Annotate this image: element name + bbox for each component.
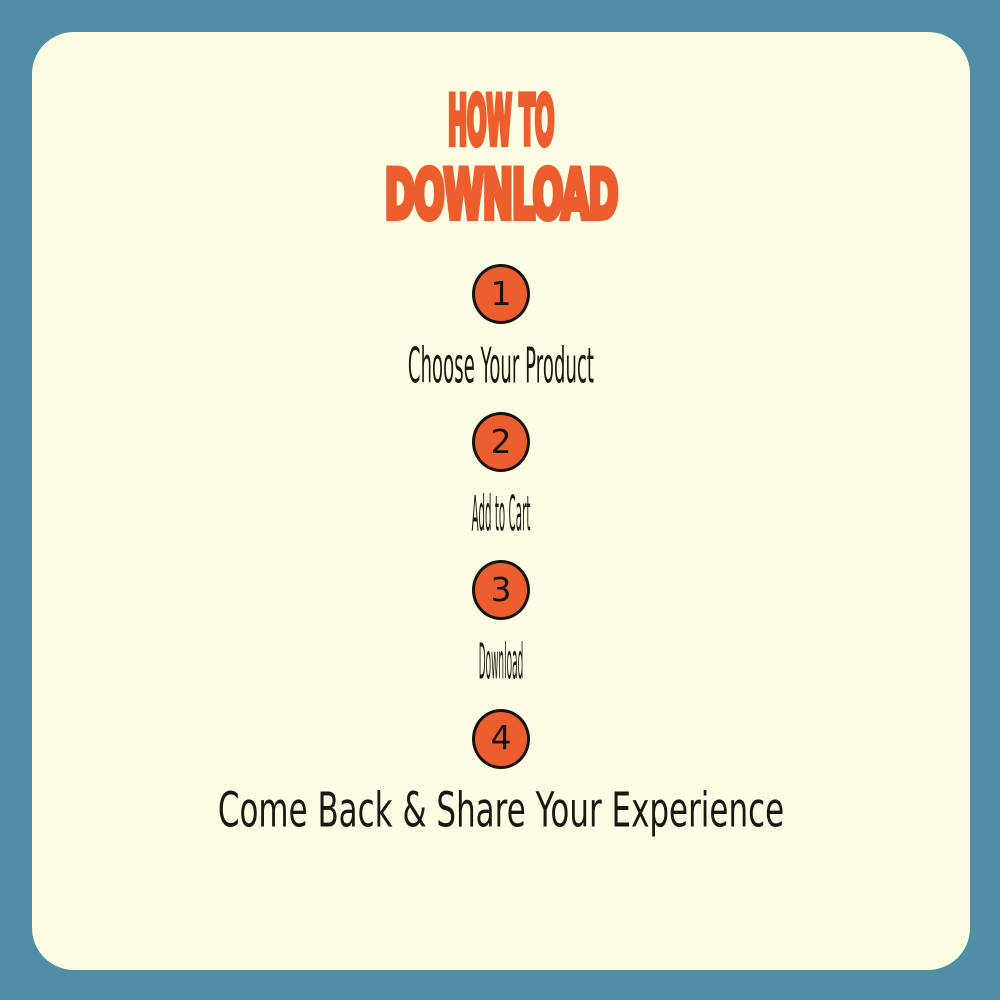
step-label-1: Choose Your Product [309,341,693,393]
list-item-step-2: 2 Add to Cart [32,412,970,538]
steps-list: 1 Choose Your Product 2 Add to Cart 3 Do… [32,264,970,834]
page-title: HOW TO DOWNLOAD [32,88,970,230]
list-item-step-3: 3 Download [32,560,970,686]
step-label-3: Download [406,638,596,690]
step-number-badge-2: 2 [472,412,530,472]
list-item-step-1: 1 Choose Your Product [32,264,970,390]
title-line-1: HOW TO [323,88,680,156]
title-line-2: DOWNLOAD [222,162,781,230]
step-label-2: Add to Cart [392,489,611,541]
list-item-step-4: 4 Come Back & Share Your Experience [32,709,970,834]
step-number-badge-3: 3 [472,560,530,620]
poster-canvas: HOW TO DOWNLOAD 1 Choose Your Product 2 … [0,0,1000,1000]
step-number-badge-1: 1 [472,264,530,324]
step-number-badge-4: 4 [472,709,530,769]
instruction-card: HOW TO DOWNLOAD 1 Choose Your Product 2 … [32,32,970,970]
step-label-4: Come Back & Share Your Experience [163,786,838,837]
